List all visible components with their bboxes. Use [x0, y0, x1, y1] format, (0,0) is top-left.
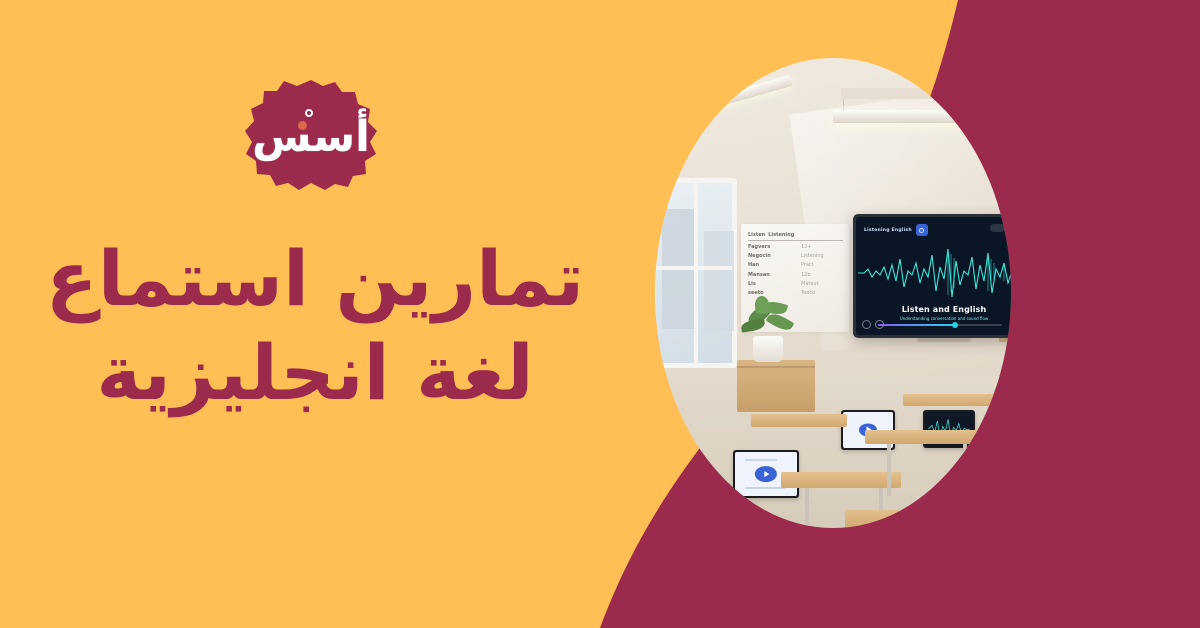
desk-leg [963, 444, 967, 496]
display-progress-fill [878, 324, 955, 326]
page-title: تمارين استماع لغة انجليزية [0, 236, 630, 424]
whiteboard-title: Listen Listening [748, 232, 843, 241]
plant-pot [753, 336, 783, 362]
whiteboard-row: Negocin Listening [748, 253, 843, 259]
whiteboard-row: Mansan 12b [748, 272, 843, 278]
display-progress-bar[interactable] [878, 324, 1002, 326]
plant-leaf [754, 296, 769, 315]
cabinet [737, 360, 815, 412]
desk-mid-right [865, 430, 983, 444]
whiteboard-row-value: Mateut [801, 281, 843, 287]
headline-line-2: لغة انجليزية [0, 330, 630, 424]
whiteboard-title-left: Listen [748, 232, 765, 238]
desk-front-center [781, 472, 901, 488]
classroom-scene: Listen Listening Fagvers 12+ Negocin Lis… [655, 58, 1011, 528]
logo-dot-icon [298, 121, 307, 130]
display-app-label: Listening English [864, 228, 912, 233]
lamp-stem-right [971, 88, 972, 112]
whiteboard-row-value: 12+ [801, 244, 843, 250]
logo[interactable]: أسس [243, 78, 379, 190]
tablet-text-line [745, 487, 785, 489]
whiteboard-row-key: Han [748, 262, 759, 268]
whiteboard-row-value: 12b [801, 272, 843, 278]
display-button-minimize[interactable] [1009, 224, 1011, 232]
headline-line-1: تمارين استماع [0, 236, 630, 330]
logo-wordmark: أسس [243, 78, 379, 190]
whiteboard-title-right: Listening [768, 232, 794, 238]
desk-leg [887, 444, 891, 496]
desk-leg [805, 488, 809, 528]
display-title: Listen and English [856, 305, 1011, 314]
whiteboard-row-key: Fagvers [748, 244, 770, 250]
display-app-icon [916, 224, 928, 236]
whiteboard-row-value: Pract [801, 262, 843, 268]
building-far-1 [662, 209, 694, 329]
display-pause-icon[interactable] [862, 320, 871, 329]
desk-back-left [751, 414, 847, 427]
smartboard-display: Listening English [853, 214, 1011, 338]
tablet-text-line [745, 459, 777, 461]
window [655, 178, 737, 368]
whiteboard-row-value: Listening [801, 253, 843, 259]
classroom-photo: Listen Listening Fagvers 12+ Negocin Lis… [655, 58, 1011, 414]
building-far-2 [704, 231, 734, 331]
audio-waveform [856, 245, 1011, 301]
logo-ring-icon [305, 109, 313, 117]
tablet-play-icon[interactable] [755, 466, 777, 482]
whiteboard-row: Fagvers 12+ [748, 244, 843, 250]
display-button-expand[interactable] [990, 224, 1005, 232]
whiteboard-row-value: Teaco [801, 290, 843, 296]
display-app-chip: Listening English [864, 224, 928, 236]
desk-back-right [903, 394, 995, 406]
banner-root: أسس تمارين استماع لغة انجليزية [0, 0, 1200, 628]
whiteboard-row: Lis Mateut [748, 281, 843, 287]
whiteboard-row-key: Negocin [748, 253, 771, 259]
whiteboard-row-key: Lis [748, 281, 756, 287]
display-stand [917, 338, 971, 342]
ceiling-lamp-2 [833, 110, 981, 123]
desk-front-right [845, 510, 995, 528]
photo-circle-mask: Listen Listening Fagvers 12+ Negocin Lis… [655, 58, 1011, 528]
display-window-buttons[interactable] [990, 224, 1011, 232]
whiteboard-row-key: Mansan [748, 272, 770, 278]
whiteboard-row: Han Pract [748, 262, 843, 268]
